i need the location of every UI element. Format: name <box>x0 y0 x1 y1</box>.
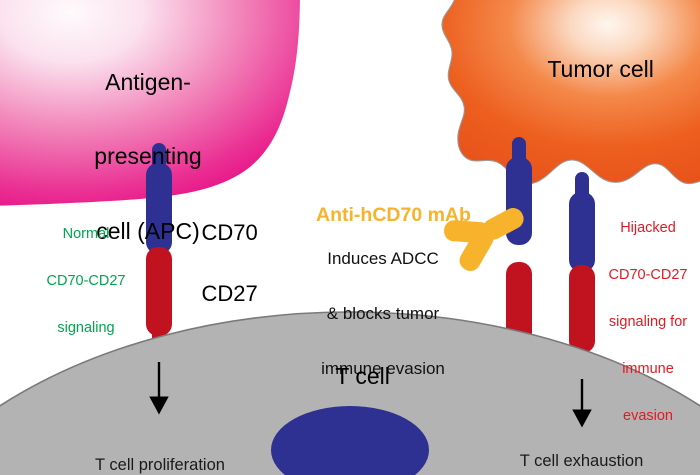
t-cell-label: T cell <box>290 339 410 413</box>
tumor-cell-label: Tumor cell <box>513 32 663 106</box>
diagram-canvas: Antigen- presenting cell (APC) Tumor cel… <box>0 0 700 475</box>
hijacked-line1: Hijacked <box>598 221 698 237</box>
hijacked-line4: immune <box>598 362 698 378</box>
cd27-label: CD27 <box>177 258 258 329</box>
normal-line1: Normal <box>28 227 144 243</box>
hijacked-line2: CD70-CD27 <box>598 268 698 284</box>
left-outcome-label: T cell proliferation & differentiation <box>64 421 256 475</box>
apc-label-line1: Antigen- <box>38 70 258 95</box>
right-outcome-line1: T cell exhaustion <box>489 453 674 471</box>
receptor-pair-hijacked <box>569 172 595 374</box>
normal-signaling-annotation: Normal CD70-CD27 signaling <box>28 196 144 368</box>
apc-label-line2: presenting <box>38 144 258 169</box>
mab-line2: & blocks tumor <box>288 305 478 323</box>
hijacked-line3: signaling for <box>598 315 698 331</box>
right-outcome-label: T cell exhaustion & apoptosis <box>489 417 674 475</box>
mab-line1: Induces ADCC <box>288 250 478 268</box>
normal-line2: CD70-CD27 <box>28 274 144 290</box>
left-outcome-line1: T cell proliferation <box>64 457 256 475</box>
normal-line3: signaling <box>28 321 144 337</box>
